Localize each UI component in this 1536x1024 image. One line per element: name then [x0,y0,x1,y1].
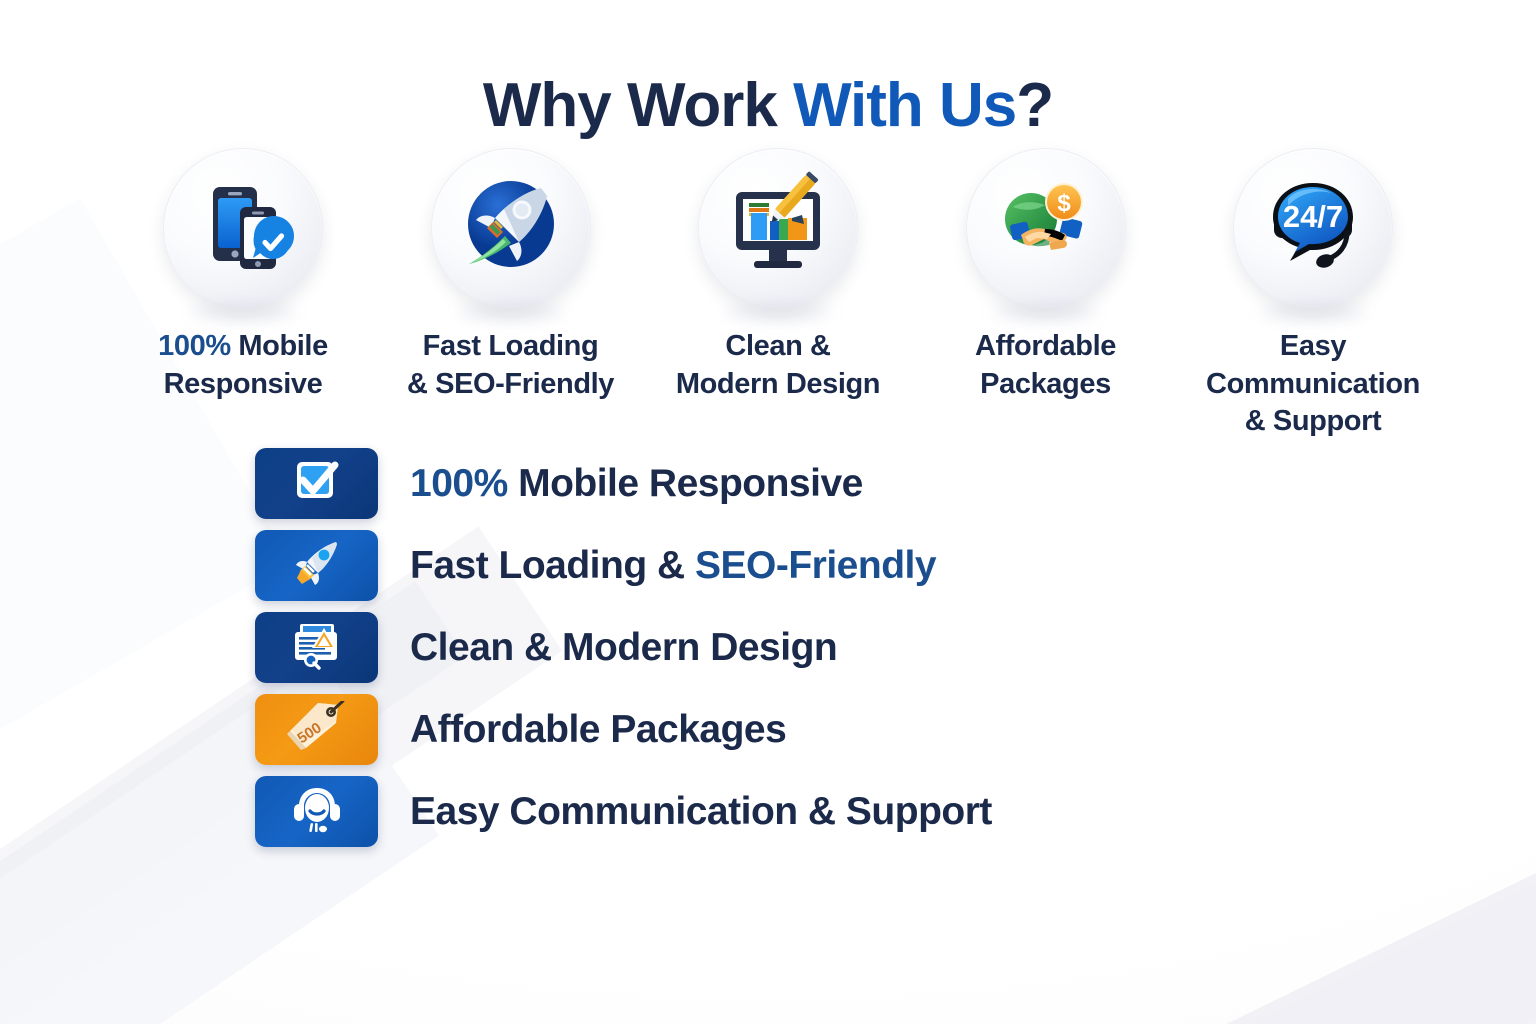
feature-label: Affordable Packages [975,328,1116,403]
feature-icon-circle [698,148,858,308]
feature-label-line1: Easy [1280,330,1346,362]
feature-label: Easy Communication & Support [1206,328,1420,441]
list-item[interactable]: 500 Affordable Packages [255,694,992,765]
feature-icon-circle: 24/7 [1233,148,1393,308]
feature-label-line2: Communication [1206,368,1420,400]
list-item[interactable]: Easy Communication & Support [255,776,992,847]
page-title-part2: With Us [793,71,1016,140]
feature-item-mobile-responsive[interactable]: 100% Mobile Responsive [118,148,368,403]
support-badge-text: 24/7 [1283,199,1343,234]
feature-label-line2: Responsive [164,368,323,400]
feature-label-line3: & Support [1245,405,1382,437]
feature-label-line2: Modern Design [676,368,880,400]
list-item-label-accent: 100% [410,462,508,505]
list-item-icon-tile [255,448,378,519]
feature-icon-circle [163,148,323,308]
list-item-label-trailing-accent: SEO-Friendly [695,544,936,587]
design-layout-icon [289,619,345,676]
background-diagonal-shape [936,727,1536,1024]
feature-label-line2: & SEO-Friendly [407,368,614,400]
checkbox-check-icon [290,454,344,513]
list-item-label: Clean & Modern Design [410,626,837,670]
feature-circle-row: 100% Mobile Responsive [118,148,1438,441]
feature-label-line2: Packages [980,368,1111,400]
list-item-icon-tile [255,530,378,601]
handshake-dollar-icon: $ [991,171,1101,286]
list-item-label: Affordable Packages [410,708,786,752]
feature-item-easy-communication[interactable]: 24/7 Easy Communication & Support [1188,148,1438,441]
list-item-icon-tile [255,776,378,847]
feature-icon-circle [431,148,591,308]
list-item-label-rest: Mobile Responsive [508,462,863,505]
feature-item-clean-design[interactable]: Clean & Modern Design [653,148,903,403]
feature-label-accent: 100% [158,330,231,362]
list-item-label-rest: Affordable Packages [410,708,786,751]
list-item[interactable]: 100% Mobile Responsive [255,448,992,519]
list-item-label-rest: Fast Loading & [410,544,695,587]
page-title: Why Work With Us? [0,75,1536,137]
price-tag-icon: 500 [286,701,348,758]
list-item-label: Fast Loading & SEO-Friendly [410,544,936,588]
list-item-icon-tile: 500 [255,694,378,765]
benefits-list: 100% Mobile Responsive Fast Loading & SE… [255,448,992,847]
page-title-part3: ? [1016,71,1053,140]
rocket-icon [455,170,567,287]
feature-label: Clean & Modern Design [676,328,880,403]
list-item[interactable]: Clean & Modern Design [255,612,992,683]
feature-label-line1: Fast Loading [423,330,599,362]
feature-label-line1: Affordable [975,330,1116,362]
feature-item-fast-loading[interactable]: Fast Loading & SEO-Friendly [386,148,636,403]
list-item-label: 100% Mobile Responsive [410,462,863,506]
list-item-label: Easy Communication & Support [410,790,992,834]
list-item[interactable]: Fast Loading & SEO-Friendly [255,530,992,601]
headset-support-icon [289,782,345,841]
feature-label: 100% Mobile Responsive [158,328,328,403]
list-item-label-rest: Easy Communication & Support [410,790,992,833]
feature-item-affordable-packages[interactable]: $ Affordable Packages [921,148,1171,403]
support-247-headset-icon: 24/7 [1257,170,1369,287]
feature-label-line1: Clean & [725,330,830,362]
feature-label-line1: Mobile [231,330,328,362]
list-item-label-rest: Clean & Modern Design [410,626,837,669]
monitor-chart-pencil-icon [722,170,834,287]
feature-label: Fast Loading & SEO-Friendly [407,328,614,403]
page-title-part1: Why Work [483,71,793,140]
rocket-icon [290,536,344,595]
mobile-devices-check-icon [191,174,295,283]
list-item-icon-tile [255,612,378,683]
feature-icon-circle: $ [966,148,1126,308]
svg-text:$: $ [1057,190,1071,217]
